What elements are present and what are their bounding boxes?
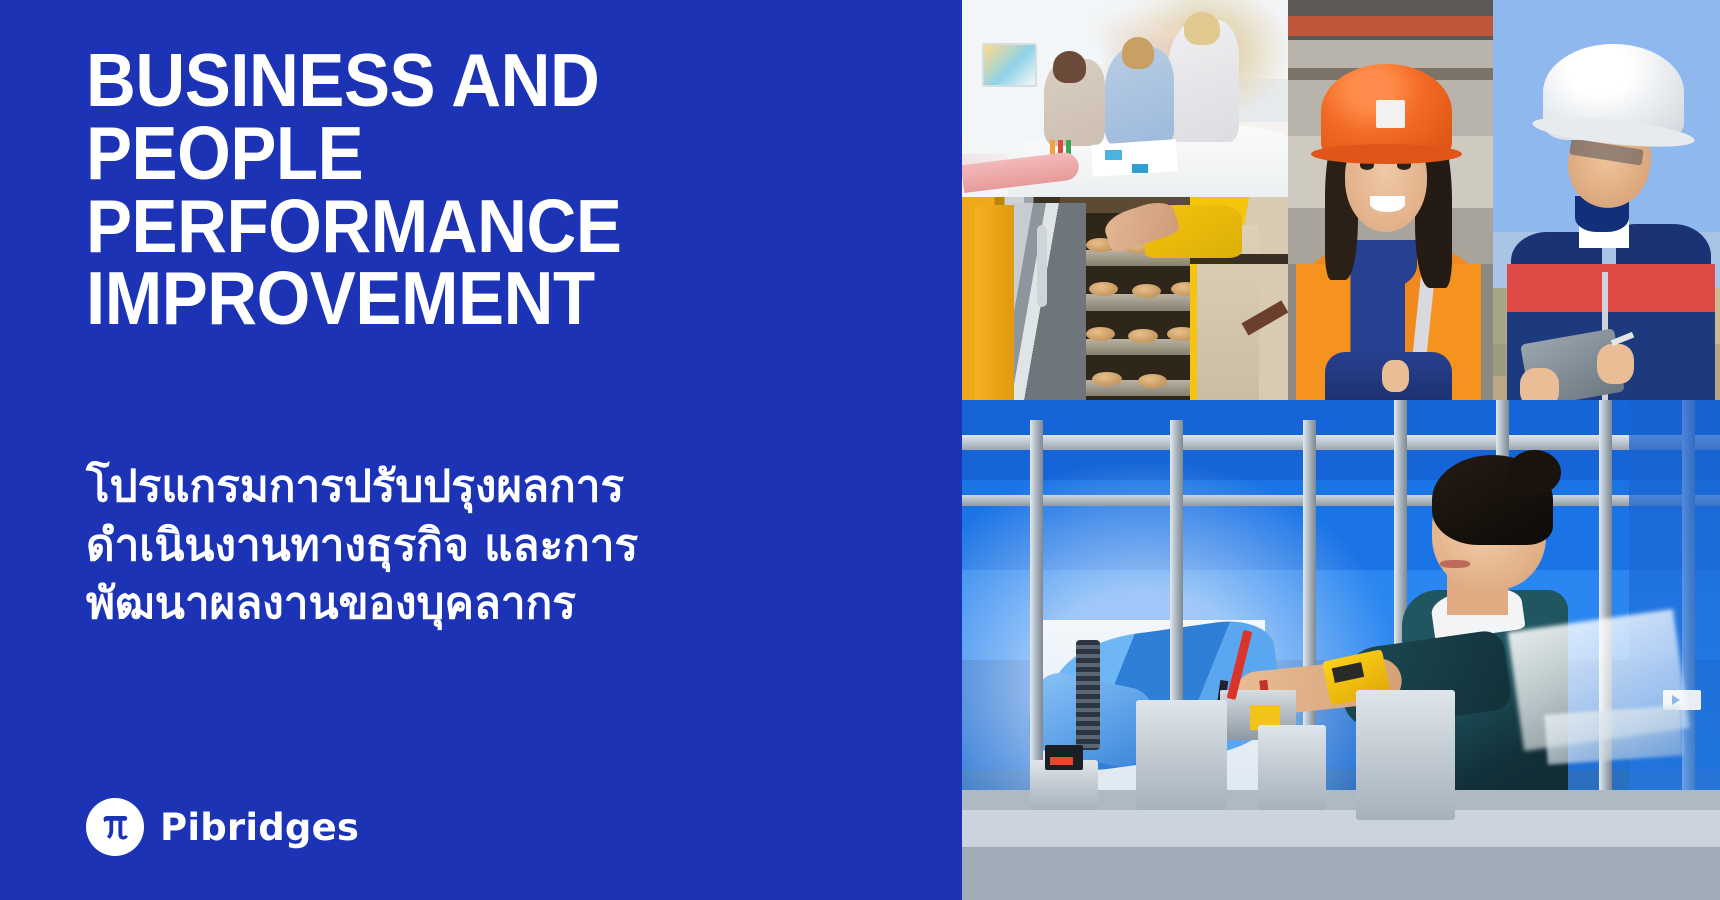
subtitle-thai: โปรแกรมการปรับปรุงผลการ ดำเนินงานทางธุรก…	[86, 458, 806, 634]
photo-office-meeting	[962, 0, 1288, 197]
brand-name: Pibridges	[160, 809, 359, 846]
left-text-panel: BUSINESS AND PEOPLE PERFORMANCE IMPROVEM…	[0, 0, 962, 900]
photo-factory-automation-engineer	[962, 400, 1720, 900]
photo-bakery-worker	[962, 197, 1288, 400]
brand-logo[interactable]: Pibridges	[86, 798, 359, 856]
promotional-banner: BUSINESS AND PEOPLE PERFORMANCE IMPROVEM…	[0, 0, 1720, 900]
page-title: BUSINESS AND PEOPLE PERFORMANCE IMPROVEM…	[86, 44, 730, 335]
pi-icon	[86, 798, 144, 856]
photo-female-safety-worker	[1288, 0, 1493, 400]
photo-collage	[962, 0, 1720, 900]
photo-male-engineer-tablet	[1493, 0, 1720, 400]
